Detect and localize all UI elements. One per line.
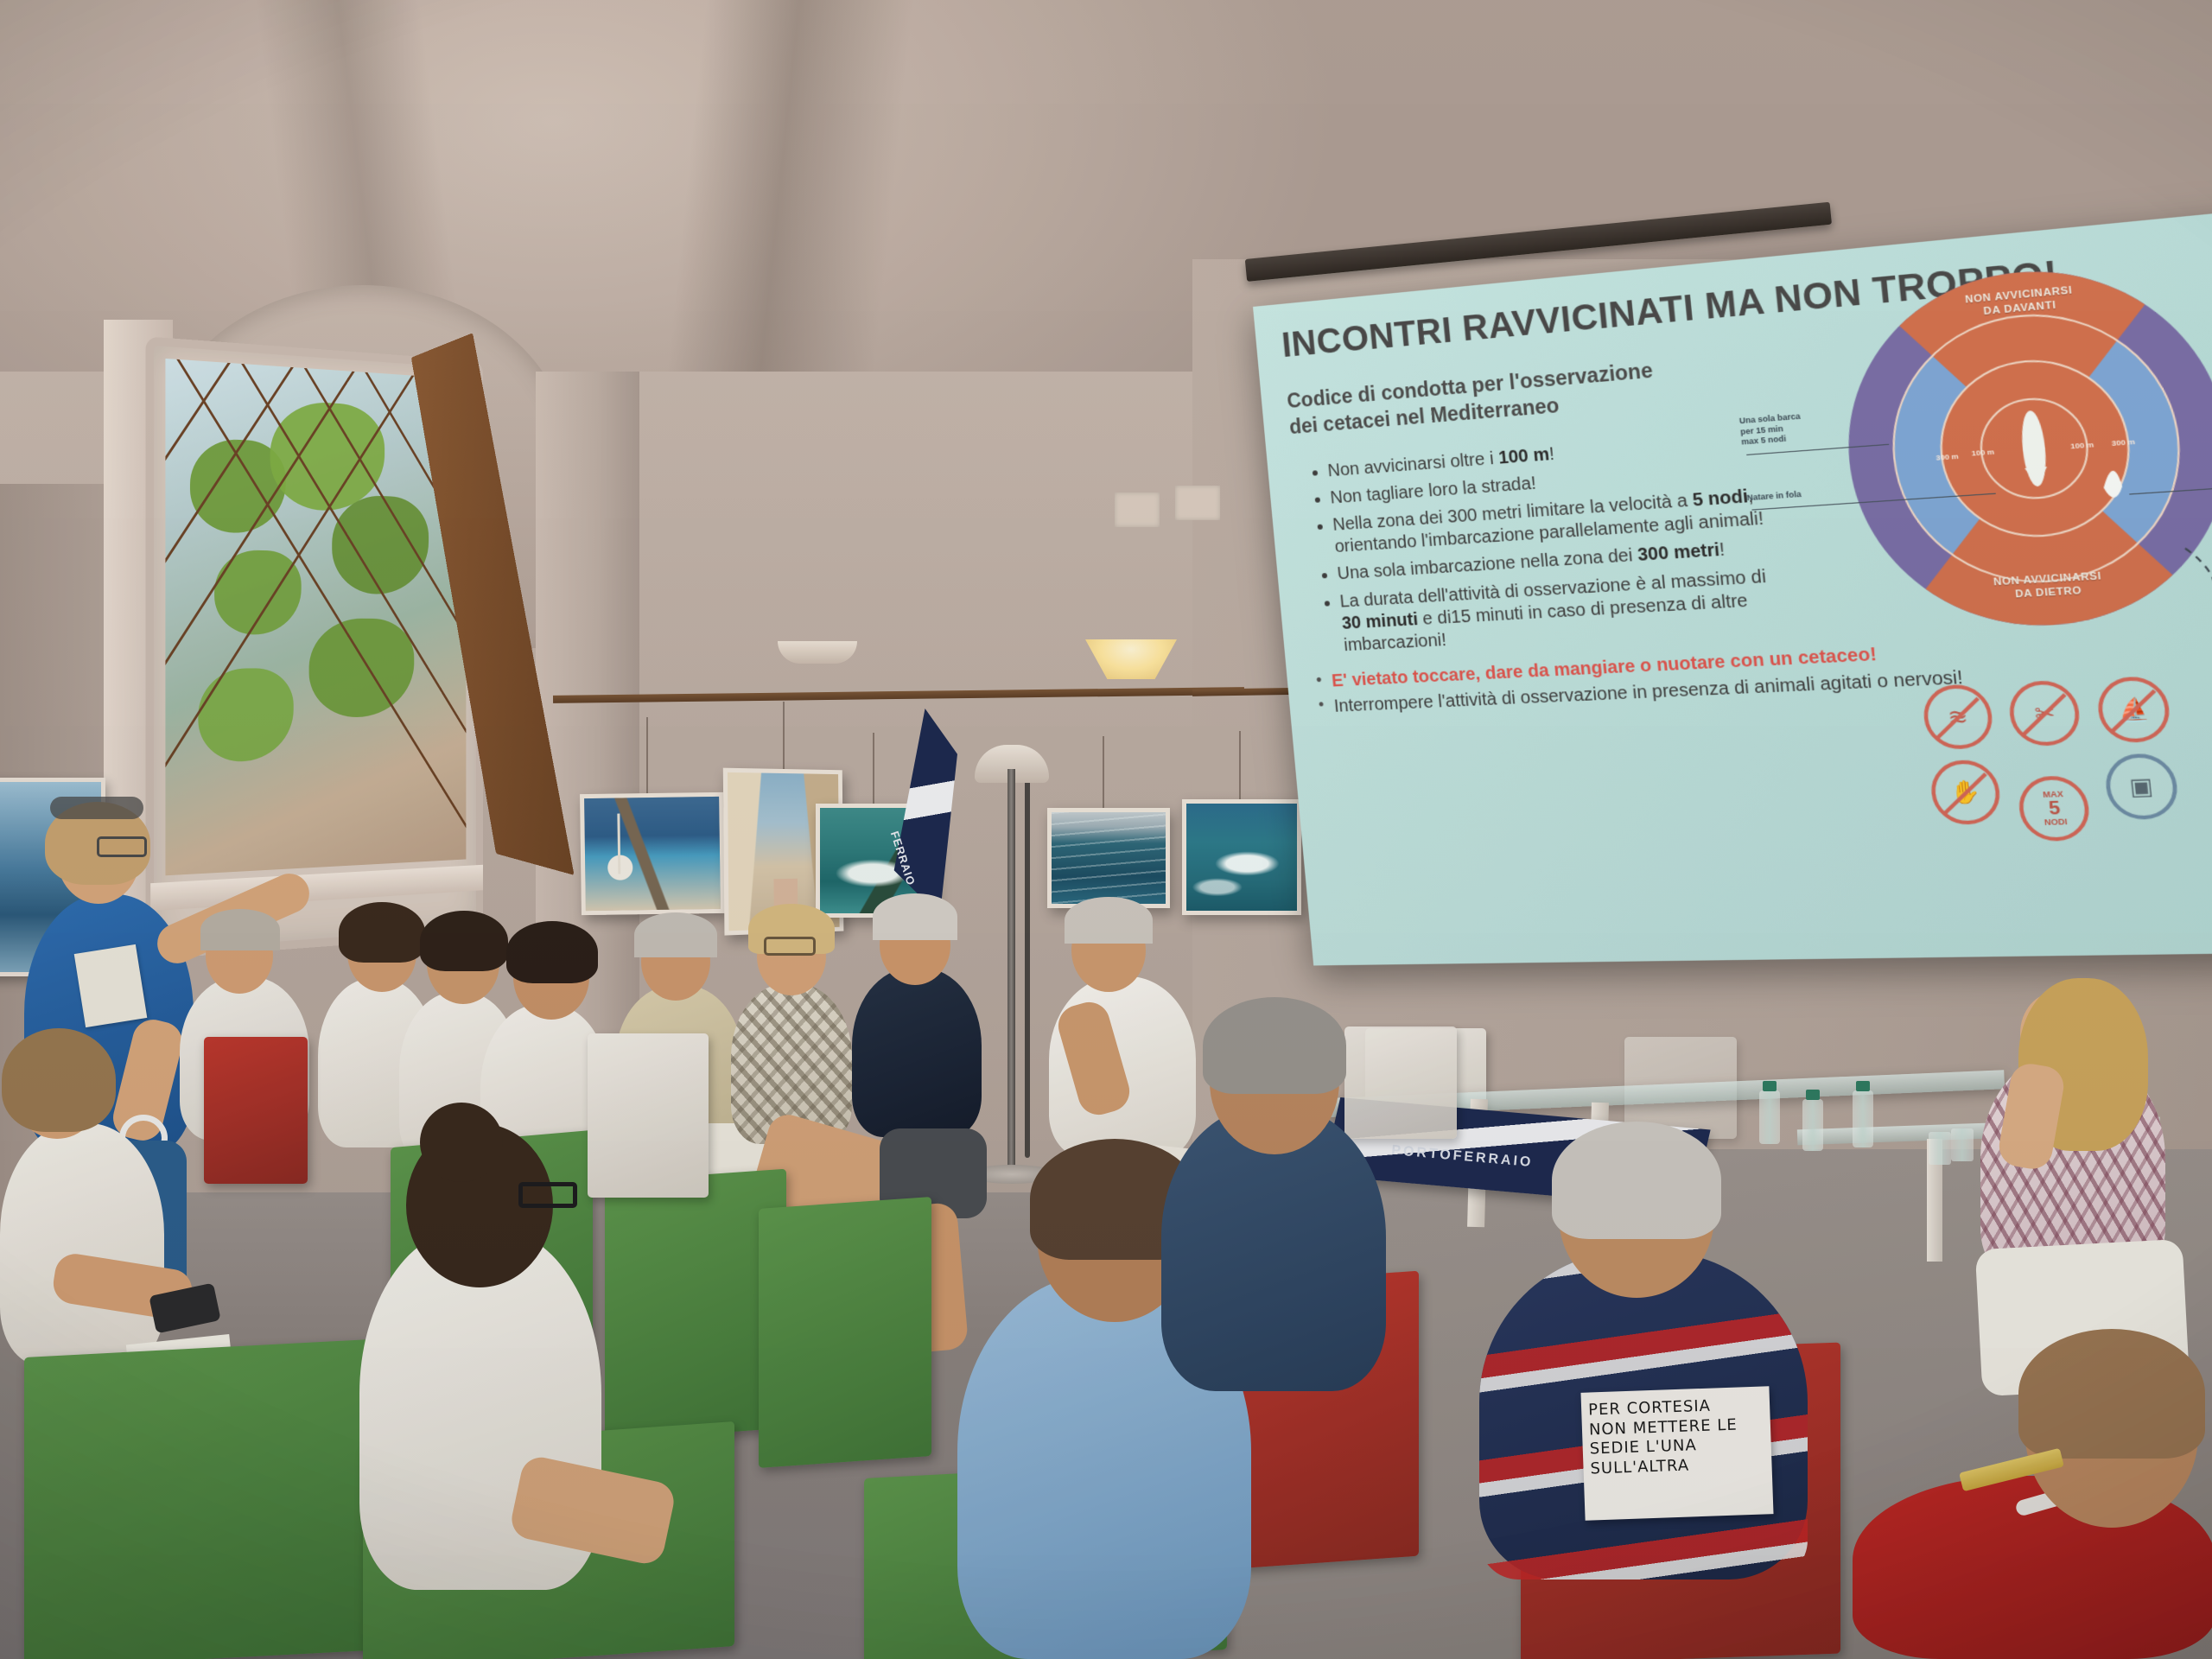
painting-sea-calm [1047,808,1170,908]
painting-harbor [580,792,725,915]
window-grille [165,359,466,875]
hanging-wire [1103,736,1104,810]
attendee-polo [852,968,982,1137]
presenter-sunglasses-on-head [50,797,143,819]
handwritten-chair-sign: PER CORTESIA NON METTERE LE SEDIE L'UNA … [1580,1386,1773,1521]
no-swimming-icon: ≋ [1921,683,1995,750]
window-glass [165,359,466,875]
slide: INCONTRI RAVVICINATI MA NON TROPPO! Codi… [1253,203,2212,965]
presenter-glasses [97,836,147,857]
attendee-hair [200,909,280,950]
attendee-hair [1065,897,1153,944]
conference-room-photo: FERRAIO INCONTRI RAVVICINATI MA NON TROP… [0,0,2212,1659]
attendee-glasses [764,937,816,956]
attendee-hair [339,902,425,963]
slide-subtitle: Codice di condotta per l'osservazione de… [1286,352,1709,441]
chair-red [204,1037,308,1184]
drinking-glass [1951,1128,1974,1161]
projection-screen: INCONTRI RAVVICINATI MA NON TROPPO! Codi… [1253,203,2212,965]
attendee-hair [873,893,957,940]
attendee-glasses [518,1182,577,1208]
wall-plate [1115,493,1160,527]
chair-white [588,1033,709,1198]
no-feeding-icon: ✂ [2007,679,2082,747]
hanging-wire [783,702,785,772]
diagram-distance-outer-left: 300 m [1935,452,1959,462]
attendee-hair [2,1028,116,1132]
attendee-hair [420,911,508,971]
wall-plate [1175,486,1220,520]
chair-green [759,1197,931,1468]
window [154,346,476,950]
hanging-wire [1239,731,1241,802]
water-bottle [1759,1090,1780,1144]
max-speed-label: MAX5NODI [2041,790,2068,828]
approach-zones-diagram: NON AVVICINARSIDA DAVANTI NON AVVICINARS… [1833,255,2212,634]
ceiling-lamp [778,641,857,664]
water-bottle [1853,1090,1873,1147]
attendee-hair [1552,1122,1721,1239]
camera-allowed-icon: ▣ [2103,753,2180,820]
slide-bullet-list: Non avvicinarsi oltre i 100 m! Non tagli… [1293,427,1789,659]
pictogram-row: ≋ ✂ ⛵ ✋ MAX5NODI ▣ [1921,672,2212,855]
chair-white [1344,1027,1457,1139]
attendee-hair-bun [420,1103,503,1182]
attendee-hair [506,921,598,983]
diagram-callout-left-top: Una sola barcaper 15 minmax 5 nodi [1738,409,1834,448]
diagram-distance-outer: 300 m [2111,437,2135,448]
attendee-top [0,1123,164,1365]
chair-green [24,1338,387,1659]
painting-wave-2 [1182,799,1301,915]
hanging-wire [646,717,648,795]
drinking-glass [1929,1132,1951,1165]
max-speed-icon: MAX5NODI [2017,775,2093,842]
attendee-hair [2018,1329,2205,1459]
presenter-booklet [74,944,148,1027]
no-jetski-icon: ⛵ [2095,676,2172,744]
hanging-wire [873,733,874,807]
floor-lamp-pole [1007,769,1015,1175]
no-touching-icon: ✋ [1929,760,2003,826]
power-cable [1025,778,1030,1158]
water-bottle [1802,1099,1823,1151]
attendee-hair [634,912,717,957]
attendee-hair [1203,997,1346,1094]
diagram-distance-inner: 100 m [1971,448,1994,458]
diagram-distance-inner-right: 100 m [2070,441,2094,451]
